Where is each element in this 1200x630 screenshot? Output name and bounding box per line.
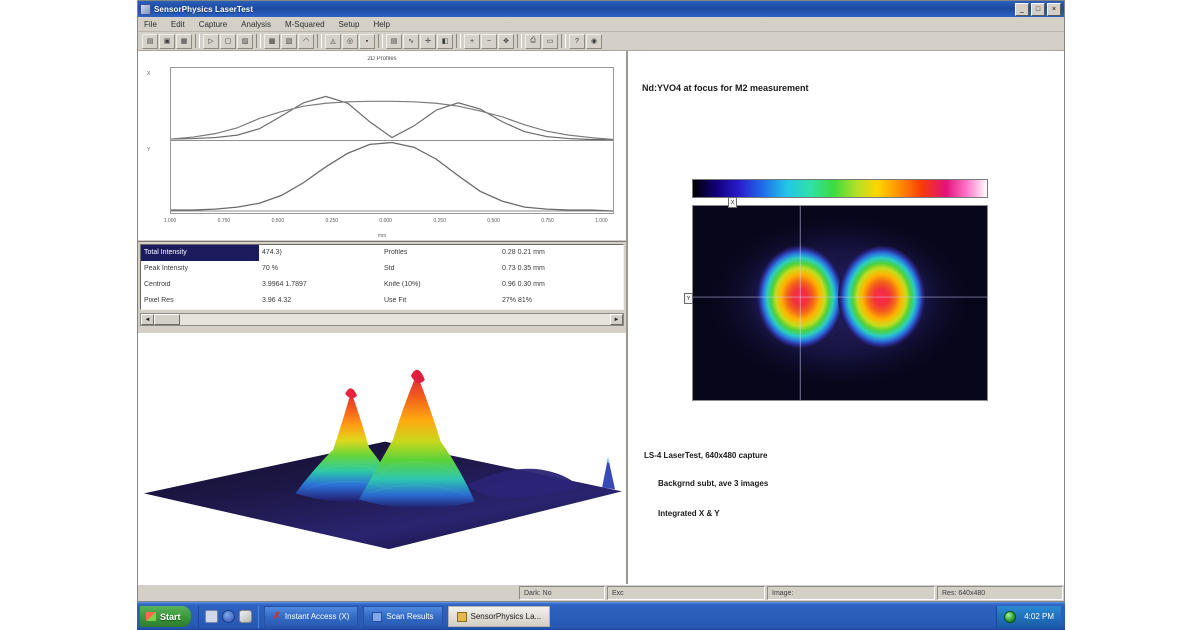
report-title: Nd:YVO4 at focus for M2 measurement [642,83,809,93]
client-area: 2D Profiles X Y [138,51,1064,584]
beam-image-svg [693,206,987,400]
taskbar-item-label: Scan Results [386,612,433,621]
profile-chart-title: 2D Profiles [138,56,626,62]
report-caption-line3: Integrated X & Y [658,509,720,518]
maximize-button[interactable]: □ [1031,3,1045,16]
capture-start-icon[interactable]: ▷ [203,34,219,49]
gaussian-fit-icon[interactable]: ∿ [403,34,419,49]
results-table-icon[interactable]: ▤ [386,34,402,49]
taskbar-item-label: Instant Access (X) [285,612,349,621]
palette-icon[interactable]: ◧ [437,34,453,49]
row-label: Centroid [141,277,259,293]
zoom-out-icon[interactable]: − [481,34,497,49]
row-value2: 0.73 0.35 mm [499,261,624,277]
background-icon[interactable]: ▧ [281,34,297,49]
window-title: SensorPhysics LaserTest [154,5,253,14]
xtick-1: 0.750 [218,218,231,228]
row-label2: Knife (10%) [381,277,499,293]
surface-view-icon[interactable]: ◬ [325,34,341,49]
row-value: 474.3) [259,245,381,261]
profile-plot-svg [171,68,613,213]
app-icon [457,612,467,622]
taskbar-item-sensorphysics[interactable]: SensorPhysics La... [448,606,551,627]
menu-item-help[interactable]: Help [373,20,389,29]
profile-view-icon[interactable]: ◠ [298,34,314,49]
row-label: Total Intensity [141,245,259,261]
profile-chart-xticks: 1.000 0.750 0.500 0.250 0.000 0.250 0.50… [170,218,614,228]
menu-item-file[interactable]: File [144,20,157,29]
zoom-in-icon[interactable]: + [464,34,480,49]
capture-stop-icon[interactable]: ▢ [220,34,236,49]
row-label: Peak Intensity [141,261,259,277]
left-pane: 2D Profiles X Y [138,51,628,584]
taskbar-clock[interactable]: 4:02 PM [1024,612,1054,621]
status-bar: Dark: No Exc Image: Res: 640x480 [138,584,1064,601]
profile-chart-ylabel-y: Y [147,147,150,153]
toolbar-separator-6 [517,34,522,48]
row-label2: Profiles [381,245,499,261]
x-icon: ✗ [273,611,281,622]
xtick-5: 0.250 [433,218,446,228]
toolbar-separator-3 [317,34,322,48]
xtick-7: 0.750 [541,218,554,228]
scroll-left-icon[interactable]: ◄ [141,314,154,325]
single-shot-icon[interactable]: ▨ [237,34,253,49]
pan-icon[interactable]: ✥ [498,34,514,49]
menu-item-m-squared[interactable]: M-Squared [285,20,325,29]
status-dark: Dark: No [519,586,605,600]
crosshair-marker-y[interactable]: Y [684,293,693,304]
toolbar-separator-2 [256,34,261,48]
crosshair-marker-x[interactable]: X [728,197,737,208]
status-resolution: Res: 640x480 [937,586,1063,600]
status-exposure: Exc [607,586,765,600]
intensity-colorbar [692,179,988,198]
profile-chart-panel: 2D Profiles X Y [138,51,626,241]
network-status-icon[interactable] [1004,611,1016,623]
report-pane: Nd:YVO4 at focus for M2 measurement [628,51,1064,584]
app-icon [140,4,151,15]
report-icon[interactable]: ▭ [542,34,558,49]
menu-item-edit[interactable]: Edit [171,20,185,29]
profile-chart-xlabel: mm [138,233,626,239]
results-panel: Total Intensity 474.3) Profiles 0.28 0.2… [138,241,626,333]
menu-item-analysis[interactable]: Analysis [241,20,271,29]
taskbar-item-instant-access[interactable]: ✗ Instant Access (X) [264,606,359,627]
system-tray: 4:02 PM [996,606,1061,628]
toolbar-separator-7 [561,34,566,48]
left-margin [0,0,137,630]
scan-icon [372,612,382,622]
start-button-label: Start [160,612,181,622]
print-icon[interactable]: ⎙ [525,34,541,49]
surface-plot-svg [138,333,626,584]
table-row[interactable]: Peak Intensity 70 % Std 0.73 0.35 mm [141,261,624,277]
start-button[interactable]: Start [140,606,191,627]
3d-surface-plot[interactable] [138,333,626,584]
table-row[interactable]: Centroid 3.9964 1.7897 Knife (10%) 0.96 … [141,277,624,293]
row-label2: Use Fit [381,293,499,309]
xtick-2: 0.500 [272,218,285,228]
xtick-4: 0.000 [379,218,392,228]
menu-item-capture[interactable]: Capture [199,20,227,29]
help-icon[interactable]: ? [569,34,585,49]
scroll-thumb[interactable] [154,314,180,325]
status-spacer [138,585,518,601]
average-icon[interactable]: ▩ [264,34,280,49]
row-value2: 0.96 0.30 mm [499,277,624,293]
toolbar-separator-5 [456,34,461,48]
taskbar-item-label: SensorPhysics La... [471,612,542,621]
tool-bar: ▤ ▣ ▦ ▷ ▢ ▨ ▩ ▧ ◠ ◬ ◎ ▪ ▤ ∿ ✛ ◧ + − ✥ ⎙ [138,32,1064,51]
toolbar-separator-1 [195,34,200,48]
table-row[interactable]: Pixel Res 3.96 4.32 Use Fit 27% 81% [141,293,624,309]
menu-bar: File Edit Capture Analysis M-Squared Set… [138,17,1064,32]
results-horizontal-scrollbar[interactable]: ◄ ► [140,313,624,326]
status-image: Image: [767,586,935,600]
scroll-right-icon[interactable]: ► [610,314,623,325]
results-table[interactable]: Total Intensity 474.3) Profiles 0.28 0.2… [140,244,624,310]
minimize-button[interactable]: _ [1015,3,1029,16]
row-label2: Std [381,261,499,277]
browser-icon[interactable] [222,610,235,623]
row-value: 3.96 4.32 [259,293,381,309]
application-window: SensorPhysics LaserTest _ □ × File Edit … [137,0,1065,602]
windows-flag-icon [146,612,156,621]
xtick-6: 0.500 [487,218,500,228]
quick-launch-bar [198,606,259,628]
show-desktop-icon[interactable] [205,610,218,623]
taskbar: Start ✗ Instant Access (X) Scan Results … [137,602,1065,630]
report-caption-line1: LS-4 LaserTest, 640x480 capture [644,451,767,460]
scroll-track[interactable] [154,314,610,325]
title-bar: SensorPhysics LaserTest _ □ × [138,1,1064,17]
xtick-0: 1.000 [164,218,177,228]
open-icon[interactable]: ▣ [159,34,175,49]
crosshair-icon[interactable]: ✛ [420,34,436,49]
table-row[interactable]: Total Intensity 474.3) Profiles 0.28 0.2… [141,245,624,261]
about-icon[interactable]: ◉ [586,34,602,49]
screenshot-root: SensorPhysics LaserTest _ □ × File Edit … [0,0,1200,630]
beam-image[interactable] [692,205,988,401]
profile-chart-ylabel-x: X [147,71,150,77]
row-value: 70 % [259,261,381,277]
row-value2: 27% 81% [499,293,624,309]
row-label: Pixel Res [141,293,259,309]
toolbar-separator-4 [378,34,383,48]
xtick-8: 1.000 [595,218,608,228]
close-button[interactable]: × [1047,3,1061,16]
menu-item-setup[interactable]: Setup [339,20,360,29]
report-caption-line2: Backgrnd subt, ave 3 images [658,479,768,488]
new-icon[interactable]: ▤ [142,34,158,49]
save-icon[interactable]: ▦ [176,34,192,49]
row-value2: 0.28 0.21 mm [499,245,624,261]
row-value: 3.9964 1.7897 [259,277,381,293]
xtick-3: 0.250 [326,218,339,228]
profile-plot-area[interactable] [170,67,614,214]
right-margin [1065,0,1200,630]
taskbar-item-scan-results[interactable]: Scan Results [363,606,442,627]
image-view-icon[interactable]: ▪ [359,34,375,49]
window-controls: _ □ × [1015,3,1062,16]
contour-view-icon[interactable]: ◎ [342,34,358,49]
media-player-icon[interactable] [239,610,252,623]
